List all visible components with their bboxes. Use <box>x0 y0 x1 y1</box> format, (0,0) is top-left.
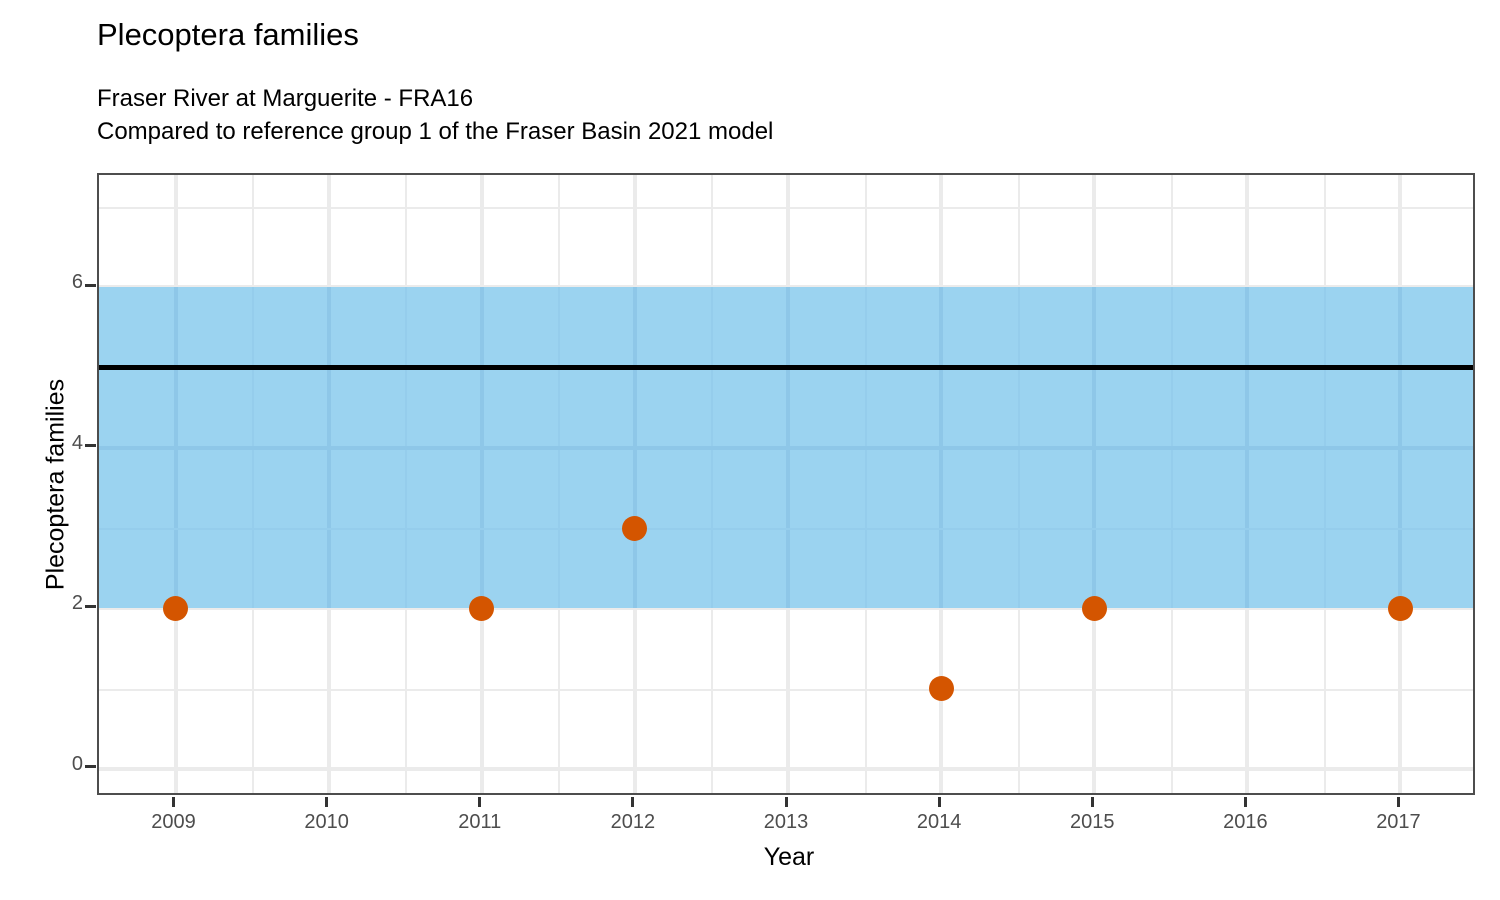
data-point[interactable] <box>929 676 954 701</box>
x-axis-tick <box>172 797 175 807</box>
x-axis-tick <box>785 797 788 807</box>
y-axis-tick <box>85 284 96 287</box>
x-axis-title-text: Year <box>764 843 815 871</box>
y-axis-title: Plecoptera families <box>42 174 71 796</box>
x-axis-tick-label: 2011 <box>420 811 540 834</box>
x-axis-tick <box>1397 797 1400 807</box>
x-axis-title: Year <box>0 843 1500 872</box>
x-axis-tick-label: 2015 <box>1032 811 1152 834</box>
plot-area <box>99 175 1473 793</box>
gridline-horizontal-in-band <box>99 446 1473 450</box>
x-axis-tick <box>478 797 481 807</box>
data-point[interactable] <box>622 516 647 541</box>
x-axis-tick <box>1091 797 1094 807</box>
x-axis-tick <box>938 797 941 807</box>
y-axis-tick <box>85 444 96 447</box>
data-point[interactable] <box>469 596 494 621</box>
x-axis-tick <box>631 797 634 807</box>
x-axis-tick-label: 2012 <box>573 811 693 834</box>
x-axis-tick <box>325 797 328 807</box>
gridline-horizontal-in-band <box>99 528 1473 530</box>
gridline-major-horizontal <box>99 767 1473 771</box>
plot-panel <box>97 173 1475 795</box>
x-axis-tick-label: 2016 <box>1185 811 1305 834</box>
chart-subtitle: Fraser River at Marguerite - FRA16 Compa… <box>97 82 773 148</box>
gridline-minor-horizontal <box>99 207 1473 209</box>
x-axis-tick-label: 2010 <box>267 811 387 834</box>
y-axis-tick <box>85 765 96 768</box>
x-axis-tick-label: 2013 <box>726 811 846 834</box>
x-axis-tick-label: 2017 <box>1338 811 1458 834</box>
chart-title: Plecoptera families <box>97 16 359 54</box>
x-axis-tick-label: 2014 <box>879 811 999 834</box>
reference-median-line <box>99 365 1473 370</box>
data-point[interactable] <box>1388 596 1413 621</box>
data-point[interactable] <box>163 596 188 621</box>
x-axis-tick <box>1244 797 1247 807</box>
plecoptera-families-chart: Plecoptera families Fraser River at Marg… <box>0 0 1500 900</box>
gridline-minor-horizontal <box>99 689 1473 691</box>
data-point[interactable] <box>1082 596 1107 621</box>
x-axis-tick-label: 2009 <box>114 811 234 834</box>
y-axis-tick <box>85 605 96 608</box>
